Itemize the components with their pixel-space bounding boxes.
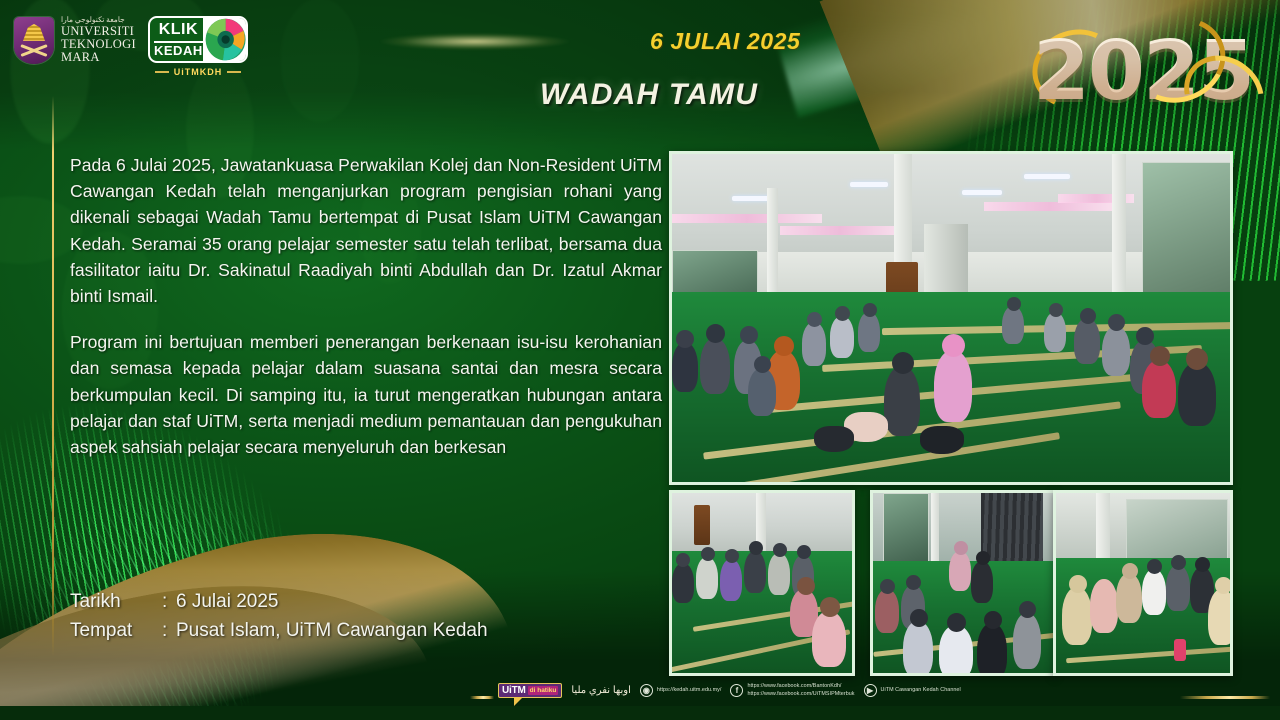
photo-thumbnail-1: [669, 490, 855, 676]
klik-caption-rule-right: [227, 71, 241, 73]
detail-separator-date: :: [162, 588, 176, 617]
uitm-line-3: MARA: [61, 51, 136, 64]
uitm-keris-icon: [20, 42, 48, 58]
vertical-gold-accent-line: [52, 96, 54, 656]
badge-brand: UiTM: [502, 685, 526, 696]
year-2025-graphic: 2025: [1012, 6, 1274, 136]
facebook-urls: https://www.facebook.com/BantonKdh/ http…: [747, 683, 854, 697]
footer-link-youtube[interactable]: ▶ UiTM Cawangan Kedah Channel: [864, 684, 961, 697]
photo-scene-discussion: [873, 493, 1053, 673]
footer-rule-left: [470, 696, 494, 699]
uitm-line-2: TEKNOLOGI: [61, 38, 136, 51]
facebook-url-1: https://www.facebook.com/BantonKdh/: [747, 683, 854, 690]
event-details: Tarikh : 6 Julai 2025 Tempat : Pusat Isl…: [70, 588, 488, 646]
klik-line-1: KLIK: [154, 22, 203, 38]
detail-separator-venue: :: [162, 617, 176, 646]
klik-kedah-logo: KLIK KEDAH: [148, 16, 248, 77]
uitm-line-1: UNIVERSITI: [61, 25, 136, 38]
uitm-logo: جامعة تكنولوجي مارا UNIVERSITI TEKNOLOGI…: [14, 16, 136, 65]
klik-logo-box: KLIK KEDAH: [148, 16, 248, 63]
event-date-heading: 6 JULAI 2025: [650, 28, 800, 55]
detail-row-venue: Tempat : Pusat Islam, UiTM Cawangan Keda…: [70, 617, 488, 646]
detail-label-venue: Tempat: [70, 617, 162, 646]
facebook-url-2: https://www.facebook.com/UiTMSIPMterbuk: [747, 691, 854, 698]
uitm-shield-icon: [14, 17, 54, 64]
detail-value-date: 6 Julai 2025: [176, 588, 278, 617]
uitm-jawi-text: جامعة تكنولوجي مارا: [61, 16, 136, 24]
globe-icon: ◉: [640, 684, 653, 697]
photo-thumbnail-2: [870, 490, 1056, 676]
footer-rule-right: [1180, 696, 1270, 699]
klik-caption-text: UiTMKDH: [174, 67, 223, 77]
youtube-icon: ▶: [864, 684, 877, 697]
poster-canvas: جامعة تكنولوجي مارا UNIVERSITI TEKNOLOGI…: [0, 0, 1280, 720]
detail-row-date: Tarikh : 6 Julai 2025: [70, 588, 488, 617]
camera-iris-icon: [205, 18, 246, 61]
youtube-channel-name: UiTM Cawangan Kedah Channel: [881, 687, 961, 694]
badge-tagline: di hatiku: [528, 686, 559, 695]
uitm-logo-wordmark: جامعة تكنولوجي مارا UNIVERSITI TEKNOLOGI…: [61, 16, 136, 65]
klik-caption-rule-left: [155, 71, 169, 73]
paragraph-2: Program ini bertujuan memberi penerangan…: [70, 329, 662, 460]
footer-content: UiTM di hatiku اوبها نفري مليا ◉ https:/…: [498, 683, 961, 698]
header-divider-glow: [380, 33, 570, 50]
paragraph-1: Pada 6 Julai 2025, Jawatankuasa Perwakil…: [70, 152, 662, 309]
footer-link-facebook[interactable]: f https://www.facebook.com/BantonKdh/ ht…: [730, 683, 854, 697]
klik-caption: UiTMKDH: [148, 67, 248, 77]
photo-scene-male-students: [672, 493, 852, 673]
klik-wordmark: KLIK KEDAH: [150, 18, 205, 61]
bottom-edge-band: [0, 706, 1280, 720]
footer-link-website[interactable]: ◉ https://kedah.uitm.edu.my/: [640, 684, 722, 697]
uitm-di-hatiku-badge: UiTM di hatiku: [498, 683, 562, 698]
photo-thumbnail-3: [1053, 490, 1233, 676]
detail-value-venue: Pusat Islam, UiTM Cawangan Kedah: [176, 617, 488, 646]
poster-header: جامعة تكنولوجي مارا UNIVERSITI TEKNOLOGI…: [0, 0, 1280, 120]
klik-line-2: KEDAH: [154, 41, 203, 57]
page-title: WADAH TAMU: [540, 78, 758, 112]
detail-label-date: Tarikh: [70, 588, 162, 617]
footer-jawi-text: اوبها نفري مليا: [571, 685, 631, 696]
website-url: https://kedah.uitm.edu.my/: [657, 687, 722, 694]
main-photo: [669, 151, 1233, 485]
facebook-icon: f: [730, 684, 743, 697]
uitm-crest-icon: [23, 24, 45, 41]
photo-scene-mosque-hall: [672, 154, 1230, 482]
article-body: Pada 6 Julai 2025, Jawatankuasa Perwakil…: [70, 152, 662, 460]
photo-scene-female-students: [1056, 493, 1230, 673]
badge-pointer-icon: [514, 697, 523, 706]
